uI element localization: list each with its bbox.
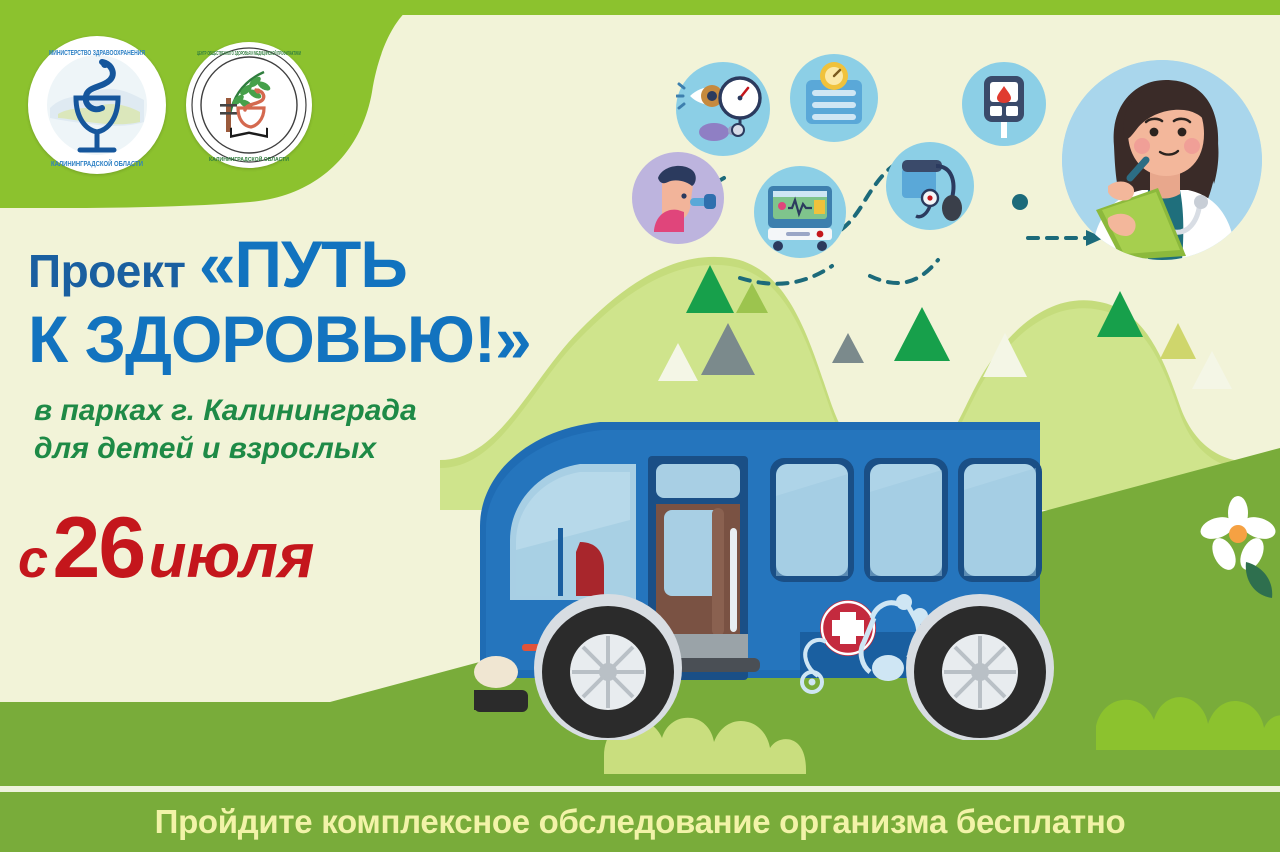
emblem-center-text-bottom: КАЛИНИНГРАДСКОЙ ОБЛАСТИ	[209, 155, 289, 163]
headline-title-line1: ПУТЬ	[235, 227, 407, 301]
date-month: июля	[149, 522, 315, 591]
emblem-ministry-text-top: МИНИСТЕРСТВО ЗДРАВООХРАНЕНИЯ	[49, 48, 145, 57]
headline-line-2: К ЗДОРОВЬЮ!»	[28, 306, 648, 373]
headline-prefix: Проект	[28, 245, 185, 297]
emblem-ministry-of-health: МИНИСТЕРСТВО ЗДРАВООХРАНЕНИЯ КАЛИНИНГРАД…	[28, 36, 166, 174]
eye-tonometer-icon	[676, 62, 770, 156]
banner-text: Пройдите комплексное обследование органи…	[155, 803, 1126, 841]
start-date: с 26 июля	[18, 505, 314, 591]
subtitle: в парках г. Калининграда для детей и взр…	[34, 392, 634, 469]
date-preposition: с	[18, 529, 48, 589]
ecg-monitor-icon	[754, 166, 846, 258]
headline-title-line2: К ЗДОРОВЬЮ!	[28, 302, 495, 376]
poster: МИНИСТЕРСТВО ЗДРАВООХРАНЕНИЯ КАЛИНИНГРАД…	[0, 0, 1280, 852]
date-day: 26	[53, 500, 145, 596]
headline-quote-open: «	[199, 227, 235, 301]
doctor-illustration	[1062, 60, 1262, 260]
emblem-public-health-center: ЦЕНТР ОБЩЕСТВЕННОГО ЗДОРОВЬЯ И МЕДИЦИНСК…	[186, 42, 312, 168]
headline-quote-close: »	[495, 302, 531, 376]
bottom-banner: Пройдите комплексное обследование органи…	[0, 792, 1280, 852]
emblem-ministry-text-bottom: КАЛИНИНГРАДСКОЙ ОБЛАСТИ	[51, 159, 143, 168]
blood-pressure-cuff-icon	[886, 142, 974, 230]
clipboard-checkup-icon	[790, 54, 878, 142]
leaf-icon	[1240, 556, 1280, 602]
headline-block: Проект «ПУТЬ К ЗДОРОВЬЮ!»	[28, 226, 648, 373]
headline-line-1: Проект «ПУТЬ	[28, 226, 648, 302]
bush-right	[1096, 680, 1280, 752]
emblem-center-text-top: ЦЕНТР ОБЩЕСТВЕННОГО ЗДОРОВЬЯ И МЕДИЦИНСК…	[197, 49, 301, 57]
glucometer-icon	[962, 62, 1046, 146]
subtitle-line-2: для детей и взрослых	[34, 430, 634, 468]
subtitle-line-1: в парках г. Калининграда	[34, 392, 634, 430]
